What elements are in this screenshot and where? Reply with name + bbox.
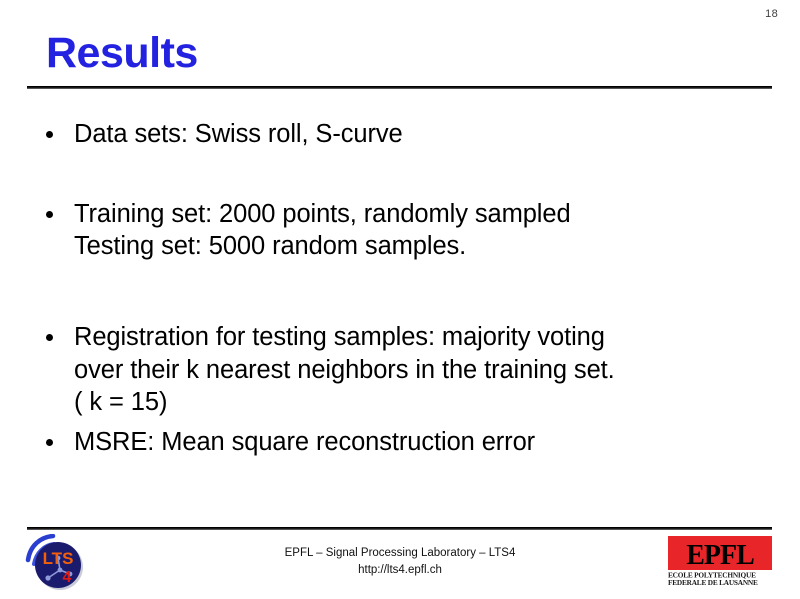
- list-item-line: MSRE: Mean square reconstruction error: [74, 426, 765, 459]
- list-item-line: Training set: 2000 points, randomly samp…: [74, 198, 765, 231]
- list-item: Data sets: Swiss roll, S-curve: [40, 118, 765, 151]
- svg-text:FEDERALE DE LAUSANNE: FEDERALE DE LAUSANNE: [668, 578, 758, 586]
- bullet-list: Data sets: Swiss roll, S-curve Training …: [40, 118, 765, 458]
- bullet-dot-icon: [40, 321, 74, 341]
- list-item-text: Training set: 2000 points, randomly samp…: [74, 198, 765, 263]
- svg-text:EPFL: EPFL: [686, 540, 754, 571]
- bullet-dot-icon: [40, 426, 74, 446]
- spacer: [40, 263, 765, 321]
- list-item-line: ( k = 15): [74, 386, 765, 419]
- list-item: MSRE: Mean square reconstruction error: [40, 426, 765, 459]
- spacer: [40, 419, 765, 426]
- spacer: [40, 151, 765, 198]
- slide-canvas: 18 Results Data sets: Swiss roll, S-curv…: [0, 0, 800, 599]
- footer-divider: [27, 527, 772, 530]
- bullet-dot-icon: [40, 118, 74, 138]
- list-item: Training set: 2000 points, randomly samp…: [40, 198, 765, 263]
- list-item-text: MSRE: Mean square reconstruction error: [74, 426, 765, 459]
- bullet-dot-icon: [40, 198, 74, 218]
- list-item: Registration for testing samples: majori…: [40, 321, 765, 419]
- epfl-logo: EPFL ECOLE POLYTECHNIQUE FEDERALE DE LAU…: [668, 536, 772, 586]
- list-item-line: Testing set: 5000 random samples.: [74, 230, 765, 263]
- page-number: 18: [765, 8, 778, 20]
- list-item-text: Data sets: Swiss roll, S-curve: [74, 118, 765, 151]
- list-item-line: over their k nearest neighbors in the tr…: [74, 354, 765, 387]
- list-item-line: Data sets: Swiss roll, S-curve: [74, 118, 765, 151]
- title-divider: [27, 86, 772, 89]
- page-title: Results: [46, 32, 198, 75]
- list-item-line: Registration for testing samples: majori…: [74, 321, 765, 354]
- list-item-text: Registration for testing samples: majori…: [74, 321, 765, 419]
